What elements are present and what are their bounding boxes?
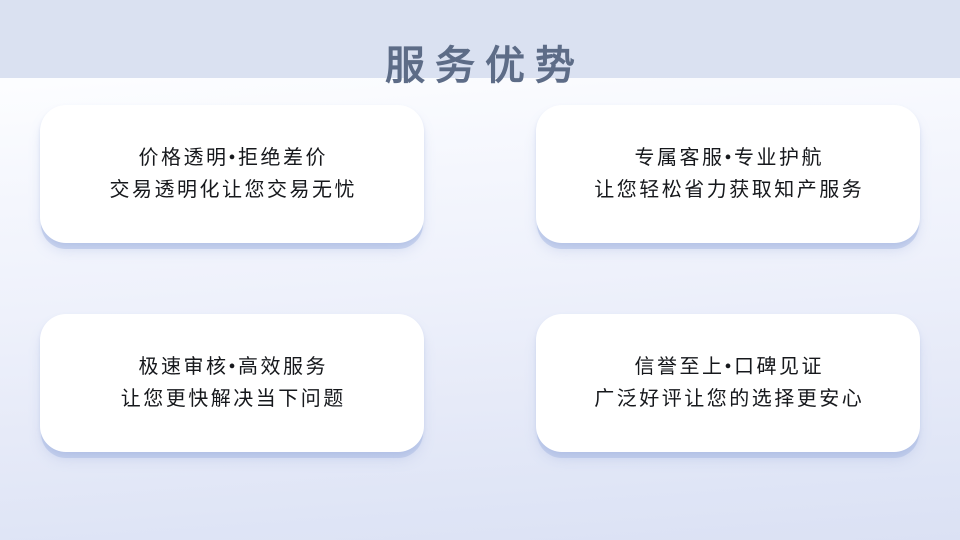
feature-card-subline: 交易透明化让您交易无忧 (107, 175, 357, 205)
feature-card-fast-review[interactable]: 极速审核•高效服务 让您更快解决当下问题 (40, 314, 424, 452)
feature-card-headline: 专属客服•专业护航 (632, 143, 824, 173)
feature-card-headline: 信誉至上•口碑见证 (632, 352, 824, 382)
feature-card-subline: 广泛好评让您的选择更安心 (592, 384, 865, 414)
feature-card-headline: 极速审核•高效服务 (136, 352, 328, 382)
feature-card-headline: 价格透明•拒绝差价 (136, 143, 328, 173)
feature-card-reputation[interactable]: 信誉至上•口碑见证 广泛好评让您的选择更安心 (536, 314, 920, 452)
slide-root: 服务优势 价格透明•拒绝差价 交易透明化让您交易无忧 专属客服•专业护航 让您轻… (0, 0, 960, 540)
feature-card-dedicated-service[interactable]: 专属客服•专业护航 让您轻松省力获取知产服务 (536, 105, 920, 243)
page-title: 服务优势 (0, 27, 960, 105)
feature-card-subline: 让您轻松省力获取知产服务 (592, 175, 865, 205)
feature-card-subline: 让您更快解决当下问题 (118, 384, 346, 414)
feature-card-price-transparency[interactable]: 价格透明•拒绝差价 交易透明化让您交易无忧 (40, 105, 424, 243)
feature-card-grid: 价格透明•拒绝差价 交易透明化让您交易无忧 专属客服•专业护航 让您轻松省力获取… (40, 105, 920, 452)
